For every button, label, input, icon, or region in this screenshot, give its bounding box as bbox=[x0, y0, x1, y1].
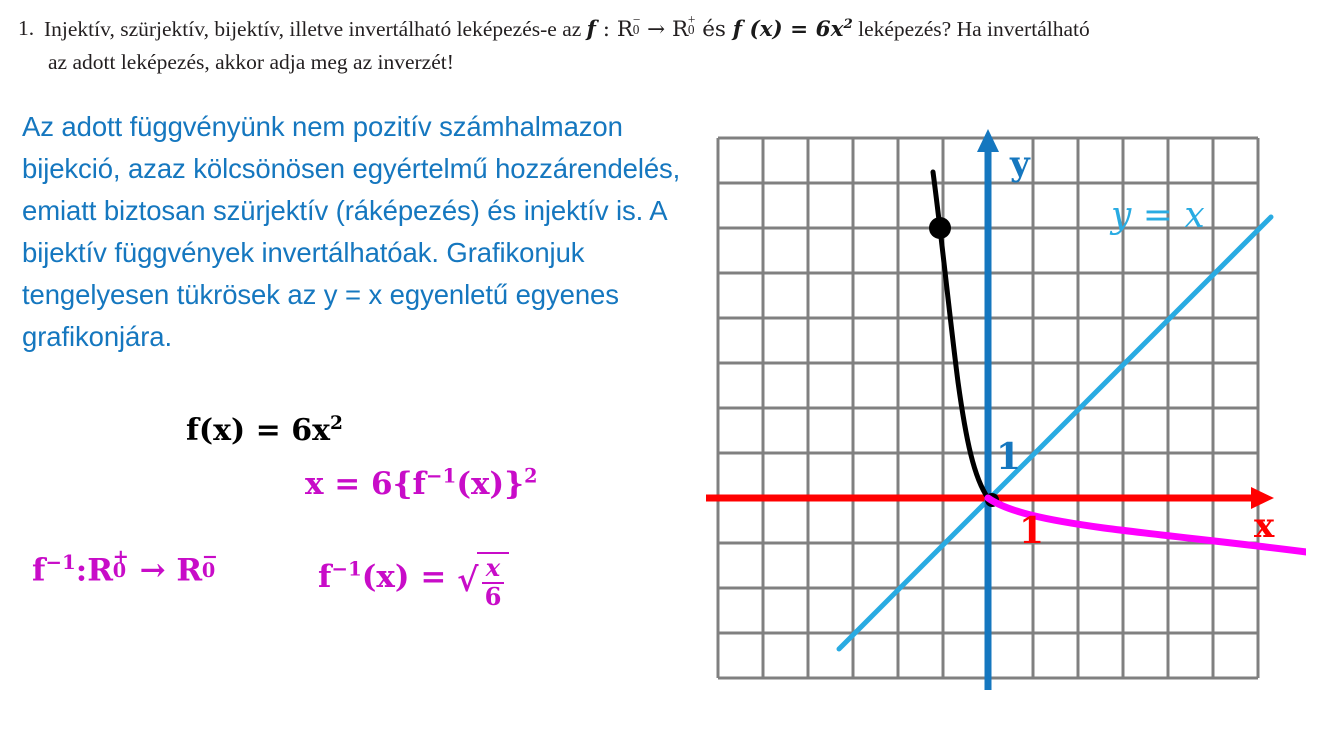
fraction-denominator: 6 bbox=[482, 582, 505, 610]
graph-panel: y x 1 1 y = x bbox=[706, 120, 1306, 710]
problem-text-line-1: Injektív, szürjektív, bijektív, illetve … bbox=[44, 14, 1309, 45]
formula-codomain-subscript: 0 bbox=[202, 562, 218, 579]
formula-def-f: f bbox=[318, 559, 331, 595]
formula-def-square-root: √x6 bbox=[457, 552, 509, 613]
math-arrow: → bbox=[640, 17, 672, 42]
fraction-numerator: x bbox=[482, 556, 505, 582]
formula-inverse-eq-neg1: −1 bbox=[426, 464, 456, 488]
problem-line-1: 1. Injektív, szürjektív, bijektív, illet… bbox=[14, 14, 1309, 45]
math-colon: : bbox=[596, 17, 617, 42]
y-axis-label: y bbox=[1009, 144, 1031, 184]
formula-inverse-eq-head: x = 6{f bbox=[305, 466, 426, 502]
identity-line-label: y = x bbox=[1109, 195, 1205, 236]
math-real-set-codomain: R bbox=[672, 17, 688, 42]
x-axis-tick-label-1: 1 bbox=[1019, 510, 1044, 552]
formula-fx-exponent: 2 bbox=[330, 413, 343, 434]
math-conjunction-es: és bbox=[695, 17, 732, 42]
formula-inverse-domain: f−1:R+0 → R−0 bbox=[32, 548, 218, 588]
formula-codomain-script: −0 bbox=[202, 546, 218, 581]
fraction-x-over-6: x6 bbox=[482, 556, 505, 609]
formula-def-neg1: −1 bbox=[331, 557, 361, 581]
formula-domain-arrow: → bbox=[129, 552, 177, 588]
formula-domain-script: +0 bbox=[113, 546, 129, 581]
formula-inverse-eq-tail: (x)} bbox=[456, 466, 524, 502]
radicand: x6 bbox=[477, 552, 510, 613]
formula-domain-colon: : bbox=[76, 552, 87, 588]
math-codomain-script: +0 bbox=[688, 12, 696, 36]
formula-function-definition: f(x) = 6x2 bbox=[186, 413, 343, 448]
math-domain-script: −0 bbox=[633, 12, 641, 36]
radical-sign: √ bbox=[457, 560, 478, 599]
math-domain-subscript: 0 bbox=[633, 24, 641, 36]
math-function-exponent: 2 bbox=[843, 16, 852, 32]
problem-text-part-1: Injektív, szürjektív, bijektív, illetve … bbox=[44, 17, 587, 41]
problem-text-line-2: az adott leképezés, akkor adja meg az in… bbox=[14, 48, 1309, 78]
formula-domain-subscript: 0 bbox=[113, 562, 129, 579]
formula-inverse-eq-square: 2 bbox=[524, 465, 537, 488]
identity-line-y-equals-x bbox=[839, 217, 1271, 649]
formula-inverse-equation: x = 6{f−1(x)}2 bbox=[305, 466, 537, 502]
math-f-symbol: f bbox=[587, 17, 596, 42]
formula-inverse-definition: f−1(x) = √x6 bbox=[318, 548, 509, 609]
problem-statement: 1. Injektív, szürjektív, bijektív, illet… bbox=[14, 14, 1309, 77]
math-function-expression: f (x) = 6x bbox=[733, 17, 844, 42]
coordinate-graph: y x 1 1 y = x bbox=[706, 120, 1306, 710]
formula-domain-f: f bbox=[32, 552, 45, 588]
formula-codomain-R: R bbox=[176, 552, 201, 588]
math-real-set-domain: R bbox=[617, 17, 633, 42]
math-R-glyph: R bbox=[617, 17, 633, 42]
explanation-paragraph: Az adott függvényünk nem pozitív számhal… bbox=[22, 106, 682, 358]
y-axis-tick-label-1: 1 bbox=[996, 436, 1021, 478]
formula-domain-neg1: −1 bbox=[45, 550, 75, 574]
formula-def-args: (x) = bbox=[362, 559, 457, 595]
x-axis-label: x bbox=[1254, 506, 1275, 546]
math-codomain-subscript: 0 bbox=[688, 24, 696, 36]
formula-domain-R: R bbox=[87, 552, 112, 588]
problem-number: 1. bbox=[14, 14, 44, 44]
problem-text-part-2: leképezés? Ha invertálható bbox=[853, 17, 1090, 41]
math-R-glyph-2: R bbox=[672, 17, 688, 42]
formula-fx-body: f(x) = 6x bbox=[186, 413, 330, 448]
function-point-marker bbox=[929, 217, 951, 239]
